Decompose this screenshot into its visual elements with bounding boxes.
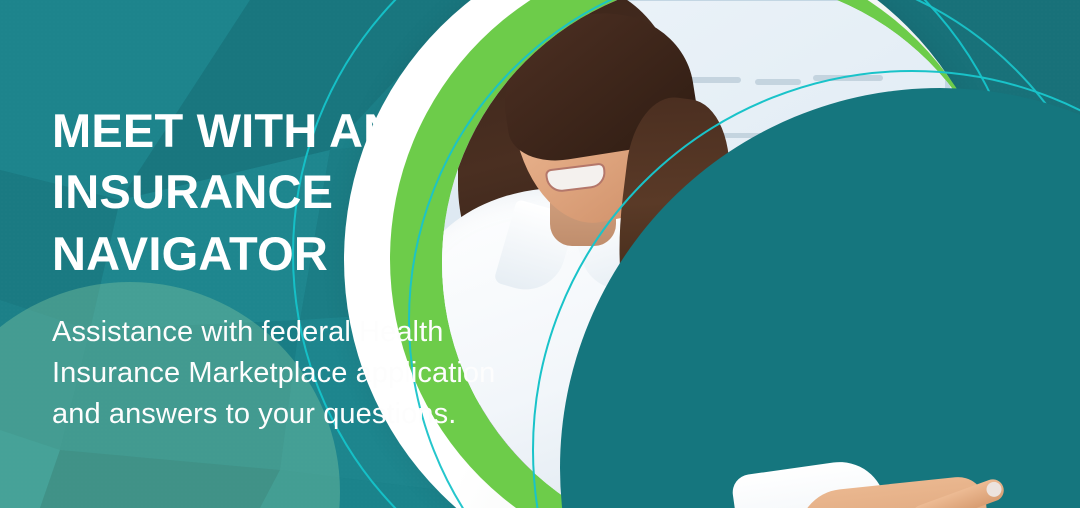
page-title: MEET WITH AN INSURANCE NAVIGATOR <box>52 100 522 284</box>
headline-line-2: INSURANCE <box>52 161 522 222</box>
banner-subheading: Assistance with federal Health Insurance… <box>52 284 522 436</box>
subheading-line-3: and answers to your questions. <box>52 394 522 435</box>
headline-line-3: NAVIGATOR <box>52 223 522 284</box>
banner-artwork: Health Data Entry Form <box>460 0 1080 508</box>
banner-copy-block: MEET WITH AN INSURANCE NAVIGATOR Assista… <box>52 100 522 436</box>
promo-banner: MEET WITH AN INSURANCE NAVIGATOR Assista… <box>0 0 1080 508</box>
headline-line-1: MEET WITH AN <box>52 100 522 161</box>
subheading-line-2: Insurance Marketplace application <box>52 353 522 394</box>
subheading-line-1: Assistance with federal Health <box>52 312 522 353</box>
